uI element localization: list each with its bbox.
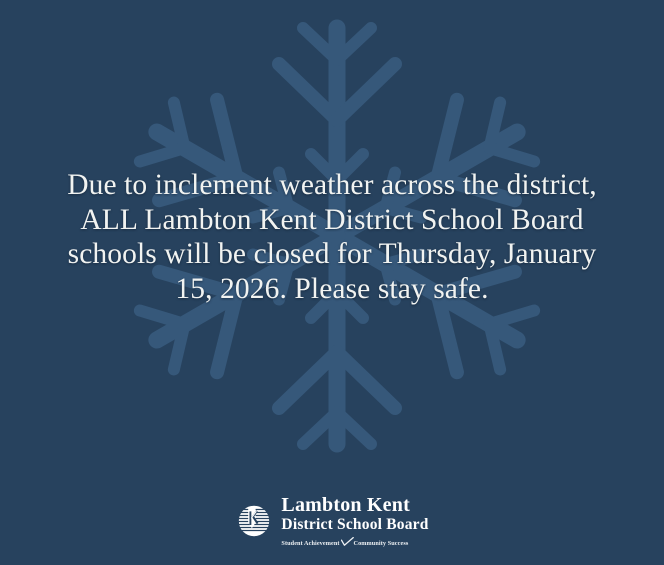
logo-tagline: Student Achievement Community Success bbox=[281, 536, 408, 547]
announcement-line-4: 15, 2026. Please stay safe. bbox=[18, 272, 646, 307]
logo-tagline-left: Student Achievement bbox=[281, 540, 339, 547]
closure-announcement-poster: Due to inclement weather across the dist… bbox=[0, 0, 664, 565]
checkmark-icon bbox=[341, 537, 354, 546]
logo-name-primary: Lambton Kent bbox=[281, 495, 410, 515]
announcement-line-1: Due to inclement weather across the dist… bbox=[18, 168, 646, 203]
announcement-line-3: schools will be closed for Thursday, Jan… bbox=[18, 237, 646, 272]
announcement-message: Due to inclement weather across the dist… bbox=[0, 168, 664, 306]
logo-name-secondary: District School Board bbox=[281, 516, 428, 533]
logo-tagline-right: Community Success bbox=[354, 540, 409, 547]
logo-wordmark: Lambton Kent District School Board Stude… bbox=[281, 495, 428, 547]
announcement-line-2: ALL Lambton Kent District School Board bbox=[18, 203, 646, 238]
lkdsb-logo: Lambton Kent District School Board Stude… bbox=[0, 495, 664, 547]
lkdsb-crest-icon bbox=[235, 502, 273, 540]
